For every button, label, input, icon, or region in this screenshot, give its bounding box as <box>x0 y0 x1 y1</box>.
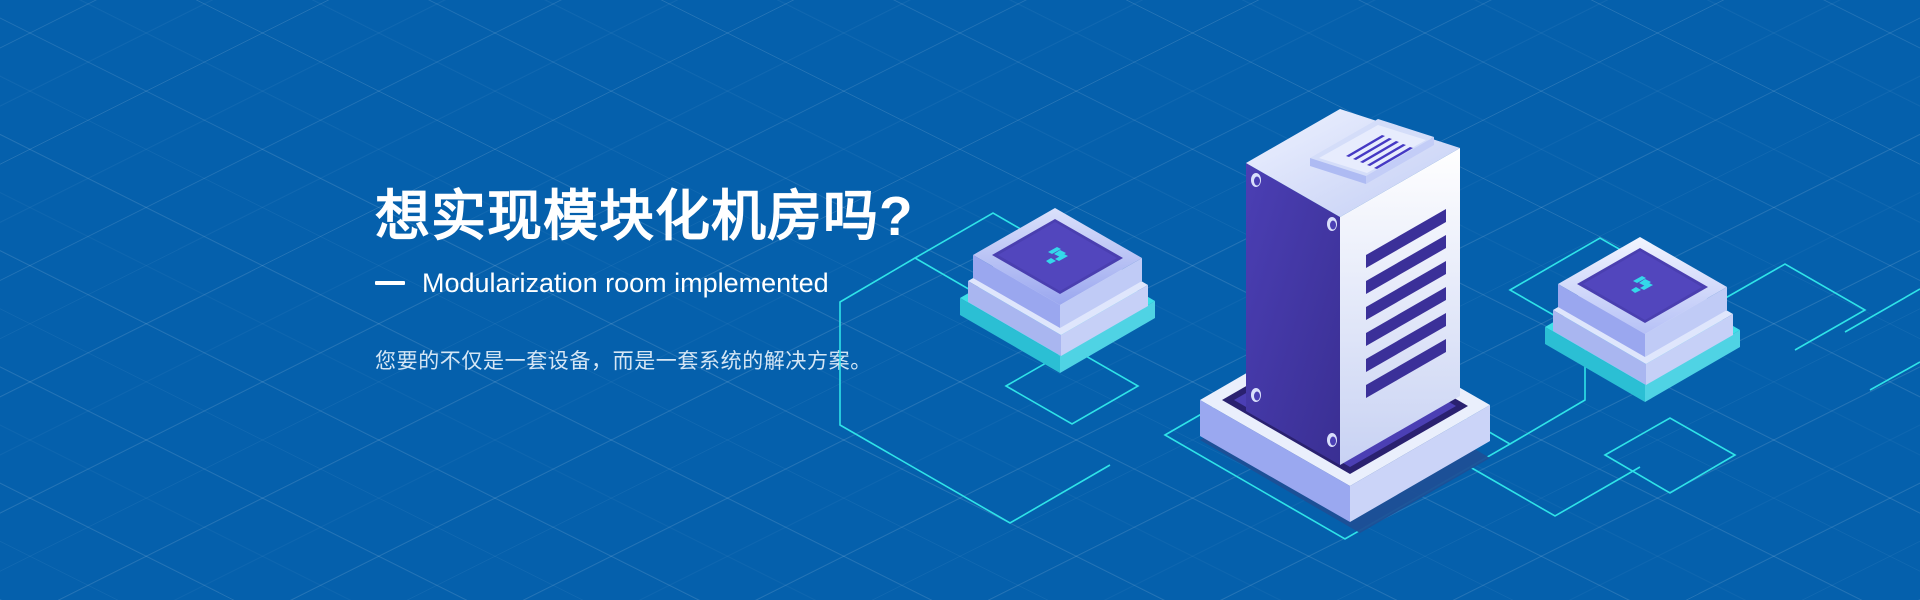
server-rack-tower <box>1200 109 1490 522</box>
isometric-datacenter-illustration <box>810 40 1920 560</box>
hero-banner: 想实现模块化机房吗? Modularization room implement… <box>0 0 1920 600</box>
subtitle-dash-icon <box>375 281 405 285</box>
chip-module-right <box>1545 237 1740 402</box>
page-subtitle: Modularization room implemented <box>422 267 829 299</box>
chip-module-left <box>960 208 1155 373</box>
